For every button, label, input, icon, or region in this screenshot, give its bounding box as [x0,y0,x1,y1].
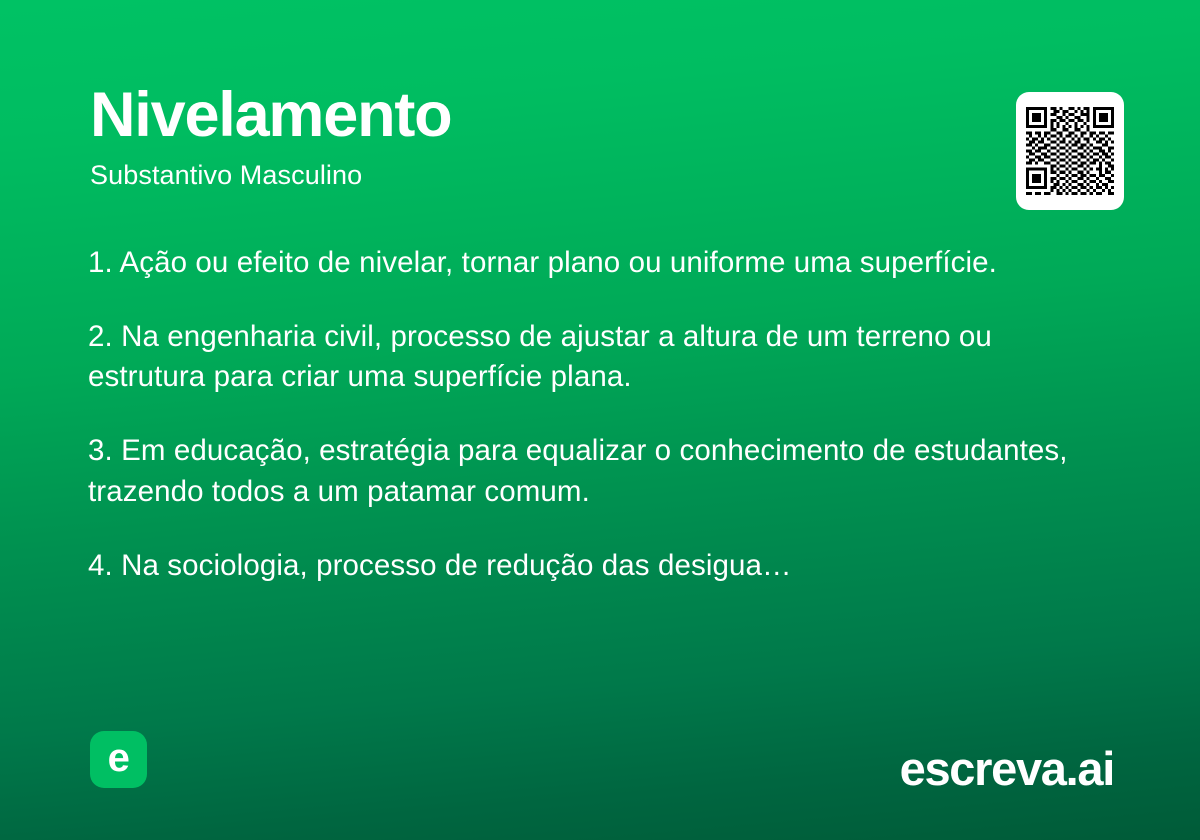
definition-item: 2. Na engenharia civil, processo de ajus… [88,317,1073,398]
definition-card: Nivelamento Substantivo Masculino 1. Açã… [0,0,1200,840]
card-header: Nivelamento Substantivo Masculino [90,84,950,191]
brand-logo-letter: e [108,738,130,778]
qr-code-card[interactable] [1016,92,1124,210]
word-class-subtitle: Substantivo Masculino [90,161,950,191]
brand-logo-badge: e [90,731,147,788]
qr-code-icon [1026,107,1114,195]
definitions-list: 1. Ação ou efeito de nivelar, tornar pla… [88,243,1073,586]
definition-item: 3. Em educação, estratégia para equaliza… [88,431,1073,512]
definition-item: 1. Ação ou efeito de nivelar, tornar pla… [88,243,1073,284]
definition-item: 4. Na sociologia, processo de redução da… [88,546,1073,587]
brand-wordmark: escreva.ai [900,745,1114,792]
page-title: Nivelamento [90,84,950,147]
